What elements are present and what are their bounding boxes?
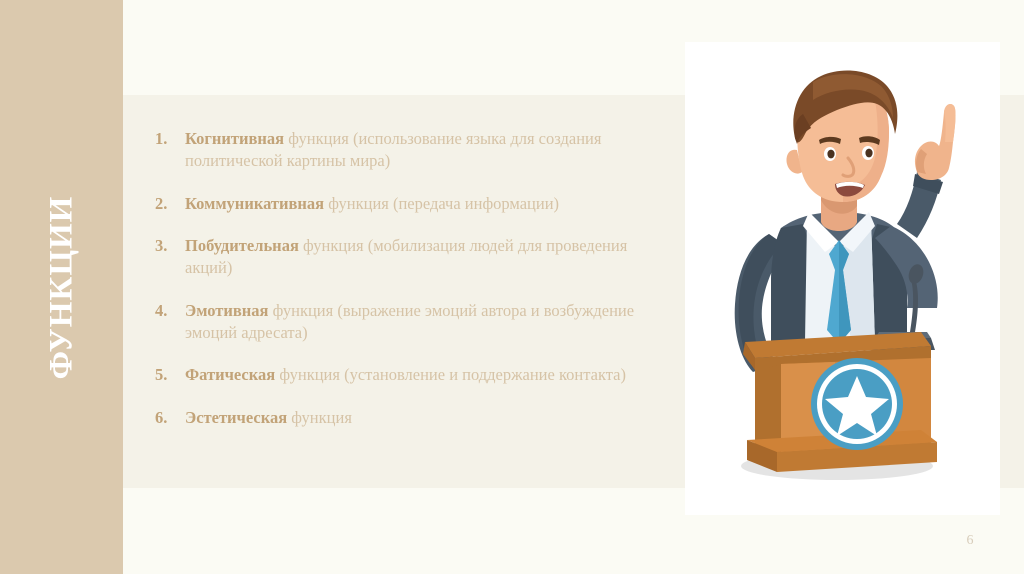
sidebar-title: ФУНКЦИИ bbox=[0, 0, 123, 574]
list-item-term: Побудительная bbox=[185, 236, 299, 255]
sidebar-band: ФУНКЦИИ bbox=[0, 0, 123, 574]
page-number: 6 bbox=[955, 533, 985, 549]
list-item-term: Эмотивная bbox=[185, 301, 268, 320]
list-item-number: 6. bbox=[155, 407, 185, 429]
list-item-text: Эстетическая функция bbox=[185, 407, 665, 429]
list-item-rest: функция (установление и поддержание конт… bbox=[275, 365, 626, 384]
list-item: 5. Фатическая функция (установление и по… bbox=[155, 364, 665, 386]
list-item: 4. Эмотивная функция (выражение эмоций а… bbox=[155, 300, 665, 344]
list-item-text: Побудительная функция (мобилизация людей… bbox=[185, 235, 665, 279]
list-item-number: 4. bbox=[155, 300, 185, 322]
list-item-term: Эстетическая bbox=[185, 408, 287, 427]
eye-left-pupil bbox=[827, 150, 834, 159]
list-item-term: Коммуникативная bbox=[185, 194, 324, 213]
pointing-finger bbox=[944, 104, 956, 142]
list-item-number: 1. bbox=[155, 128, 185, 150]
list-item-text: Коммуникативная функция (передача информ… bbox=[185, 193, 665, 215]
list-item-term: Фатическая bbox=[185, 365, 275, 384]
speaker-at-podium-illustration bbox=[685, 42, 1000, 515]
list-item-term: Когнитивная bbox=[185, 129, 284, 148]
list-item-text: Эмотивная функция (выражение эмоций авто… bbox=[185, 300, 665, 344]
list-item-rest: функция bbox=[287, 408, 352, 427]
list-item-number: 5. bbox=[155, 364, 185, 386]
list-item: 3. Побудительная функция (мобилизация лю… bbox=[155, 235, 665, 279]
eye-right-pupil bbox=[865, 149, 872, 158]
list-item-rest: функция (передача информации) bbox=[324, 194, 559, 213]
sidebar-title-text: ФУНКЦИИ bbox=[43, 195, 80, 379]
slide: ФУНКЦИИ 1. Когнитивная функция (использо… bbox=[0, 0, 1024, 574]
image-panel bbox=[685, 42, 1000, 515]
list-item-number: 3. bbox=[155, 235, 185, 257]
list-item-text: Фатическая функция (установление и подде… bbox=[185, 364, 665, 386]
functions-list: 1. Когнитивная функция (использование яз… bbox=[155, 128, 665, 450]
list-item: 6. Эстетическая функция bbox=[155, 407, 665, 429]
list-item: 1. Когнитивная функция (использование яз… bbox=[155, 128, 665, 172]
list-item-number: 2. bbox=[155, 193, 185, 215]
list-item: 2. Коммуникативная функция (передача инф… bbox=[155, 193, 665, 215]
list-item-text: Когнитивная функция (использование языка… bbox=[185, 128, 665, 172]
